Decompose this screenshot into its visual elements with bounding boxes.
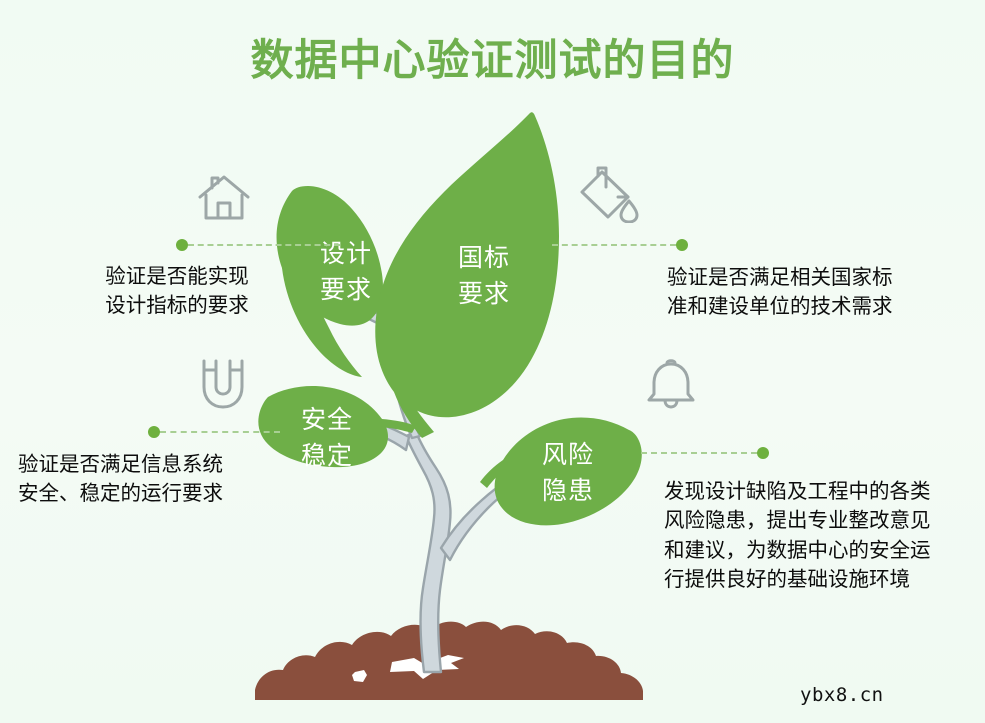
connector-safety (148, 431, 280, 433)
description-design: 验证是否能实现 设计指标的要求 (87, 262, 267, 321)
connector-design (176, 244, 340, 246)
plant-illustration (0, 0, 985, 723)
connector-dash (188, 244, 340, 246)
connector-dot (676, 239, 688, 251)
paint-bucket-icon (578, 165, 640, 223)
connector-risk (641, 452, 769, 454)
connector-dash (160, 431, 280, 433)
magnet-icon (199, 357, 247, 411)
connector-dot (757, 447, 769, 459)
connector-dash (641, 452, 757, 454)
description-safety: 验证是否满足信息系统 安全、稳定的运行要求 (18, 450, 268, 509)
description-risk: 发现设计缺陷及工程中的各类 风险隐患，提出专业整改意见 和建议，为数据中心的安全… (664, 477, 964, 594)
description-standard: 验证是否满足相关国家标 准和建设单位的技术需求 (667, 263, 943, 322)
leaf-standard (375, 112, 559, 417)
leaf-safety (258, 386, 388, 467)
home-icon (196, 172, 252, 224)
connector-standard (552, 244, 688, 246)
connector-dot (176, 239, 188, 251)
connector-dot (148, 426, 160, 438)
infographic-canvas: 数据中心验证测试的目的 (0, 0, 985, 723)
watermark: ybx8.cn (800, 684, 884, 706)
connector-dash (552, 244, 676, 246)
soil-mound (255, 622, 643, 700)
bell-icon (645, 358, 697, 410)
leaf-risk (495, 417, 642, 525)
